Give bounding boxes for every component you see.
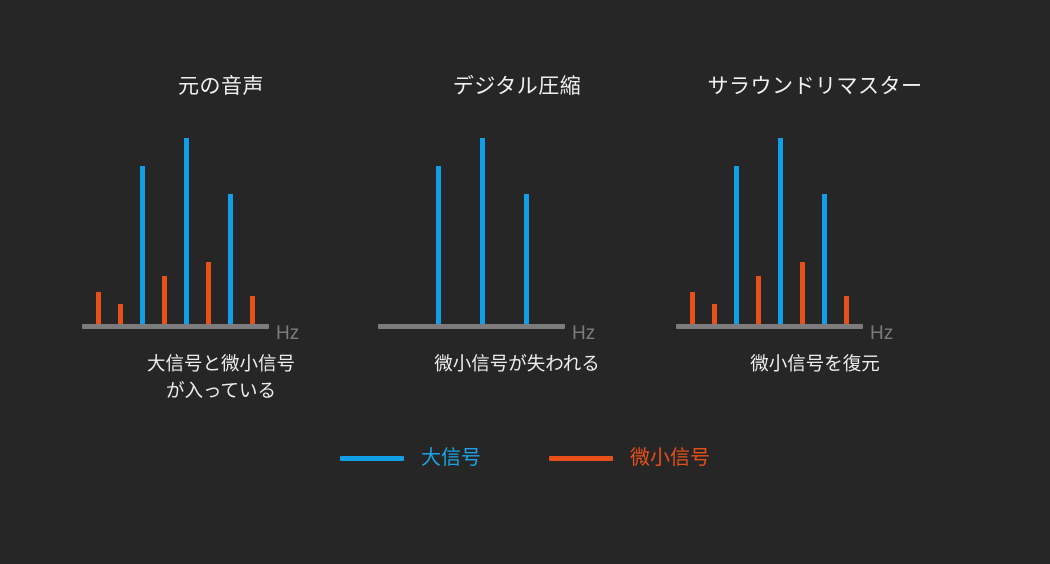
frequency-axis	[378, 324, 565, 329]
spectrum-bar-small	[690, 292, 695, 324]
spectrum-bar-small	[118, 304, 123, 324]
bar-group	[76, 124, 366, 324]
panel-caption: 大信号と微小信号 が入っている	[76, 350, 366, 404]
axis-unit-label: Hz	[870, 324, 893, 343]
infographic-canvas: 元の音声 Hz 大信号と微小信号 が入っている デジタル圧縮 Hz 微小信号が失…	[0, 0, 1050, 564]
panel-original: 元の音声 Hz 大信号と微小信号 が入っている	[76, 72, 366, 324]
spectrum-bar-big	[140, 166, 145, 324]
spectrum-bar-small	[712, 304, 717, 324]
bar-group	[670, 124, 960, 324]
legend-label: 微小信号	[630, 446, 710, 470]
panel-compressed: デジタル圧縮 Hz 微小信号が失われる	[372, 72, 662, 324]
panel-title: サラウンドリマスター	[670, 72, 960, 102]
spectrum-bar-big	[778, 138, 783, 324]
spectrum-bar-small	[844, 296, 849, 324]
panel-title: デジタル圧縮	[372, 72, 662, 102]
panel-remastered: サラウンドリマスター Hz 微小信号を復元	[670, 72, 960, 324]
panel-title: 元の音声	[76, 72, 366, 102]
spectrum-bar-small	[800, 262, 805, 324]
legend-item-big-signal: 大信号	[340, 446, 481, 470]
panel-caption: 微小信号が失われる	[372, 350, 662, 377]
spectrum-bar-big	[734, 166, 739, 324]
panel-row: 元の音声 Hz 大信号と微小信号 が入っている デジタル圧縮 Hz 微小信号が失…	[0, 72, 1050, 324]
spectrum-plot: Hz	[372, 124, 662, 324]
legend-item-small-signal: 微小信号	[549, 446, 710, 470]
spectrum-bar-big	[436, 166, 441, 324]
spectrum-bar-small	[162, 276, 167, 324]
spectrum-bar-big	[822, 194, 827, 324]
legend-swatch-icon	[340, 456, 404, 461]
axis-unit-label: Hz	[572, 324, 595, 343]
bar-group	[372, 124, 662, 324]
spectrum-bar-small	[250, 296, 255, 324]
legend-swatch-icon	[549, 456, 613, 461]
spectrum-bar-small	[96, 292, 101, 324]
legend-label: 大信号	[421, 446, 481, 470]
spectrum-bar-big	[480, 138, 485, 324]
spectrum-bar-small	[206, 262, 211, 324]
chart-legend: 大信号 微小信号	[0, 446, 1050, 470]
panel-caption: 微小信号を復元	[670, 350, 960, 377]
frequency-axis	[676, 324, 863, 329]
spectrum-bar-big	[184, 138, 189, 324]
spectrum-plot: Hz	[670, 124, 960, 324]
spectrum-plot: Hz	[76, 124, 366, 324]
spectrum-bar-big	[228, 194, 233, 324]
spectrum-bar-big	[524, 194, 529, 324]
spectrum-bar-small	[756, 276, 761, 324]
axis-unit-label: Hz	[276, 324, 299, 343]
frequency-axis	[82, 324, 269, 329]
